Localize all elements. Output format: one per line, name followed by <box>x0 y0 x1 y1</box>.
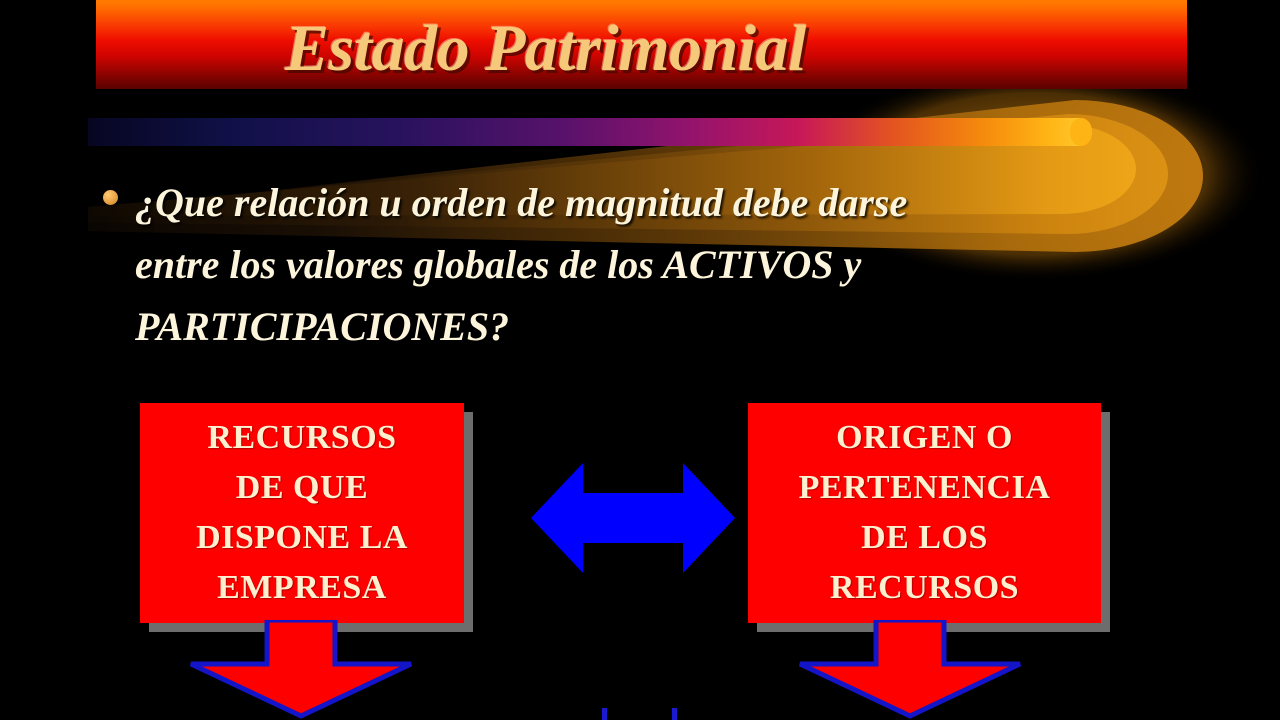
diagram-box-recursos-text: RECURSOS DE QUE DISPONE LA EMPRESA <box>190 413 414 613</box>
presentation-slide: Estado Patrimonial ¿Que relación u orden… <box>0 0 1280 720</box>
bullet-line-1: ¿Que relación u orden de magnitud debe d… <box>135 180 907 225</box>
box-right-line-1: ORIGEN O <box>836 419 1013 456</box>
bullet-line-3: PARTICIPACIONES? <box>135 304 509 349</box>
box-left-line-3: DISPONE LA <box>196 519 408 556</box>
diagram-box-origen[interactable]: ORIGEN O PERTENENCIA DE LOS RECURSOS <box>748 403 1101 623</box>
diagram-box-recursos[interactable]: RECURSOS DE QUE DISPONE LA EMPRESA <box>140 403 464 623</box>
bullet-dot-icon <box>103 190 118 205</box>
bullet-line-2: entre los valores globales de los ACTIVO… <box>135 242 861 287</box>
bullet-text: ¿Que relación u orden de magnitud debe d… <box>135 172 907 358</box>
box-left-line-4: EMPRESA <box>217 569 387 606</box>
letterbox-bar-left <box>0 0 88 720</box>
box-right-line-3: DE LOS <box>861 519 988 556</box>
diagram-box-origen-text: ORIGEN O PERTENENCIA DE LOS RECURSOS <box>793 413 1057 613</box>
double-arrow-icon <box>531 459 735 577</box>
page-title: Estado Patrimonial <box>0 0 1091 97</box>
box-left-line-2: DE QUE <box>236 469 368 506</box>
box-right-line-2: PERTENENCIA <box>799 469 1051 506</box>
down-arrow-icon-left <box>179 620 423 720</box>
bullet-item: ¿Que relación u orden de magnitud debe d… <box>103 172 1163 358</box>
down-arrow-icon-right <box>788 620 1032 720</box>
box-left-line-1: RECURSOS <box>207 419 396 456</box>
box-right-line-4: RECURSOS <box>830 569 1019 606</box>
offscreen-shape-stub <box>580 700 700 720</box>
